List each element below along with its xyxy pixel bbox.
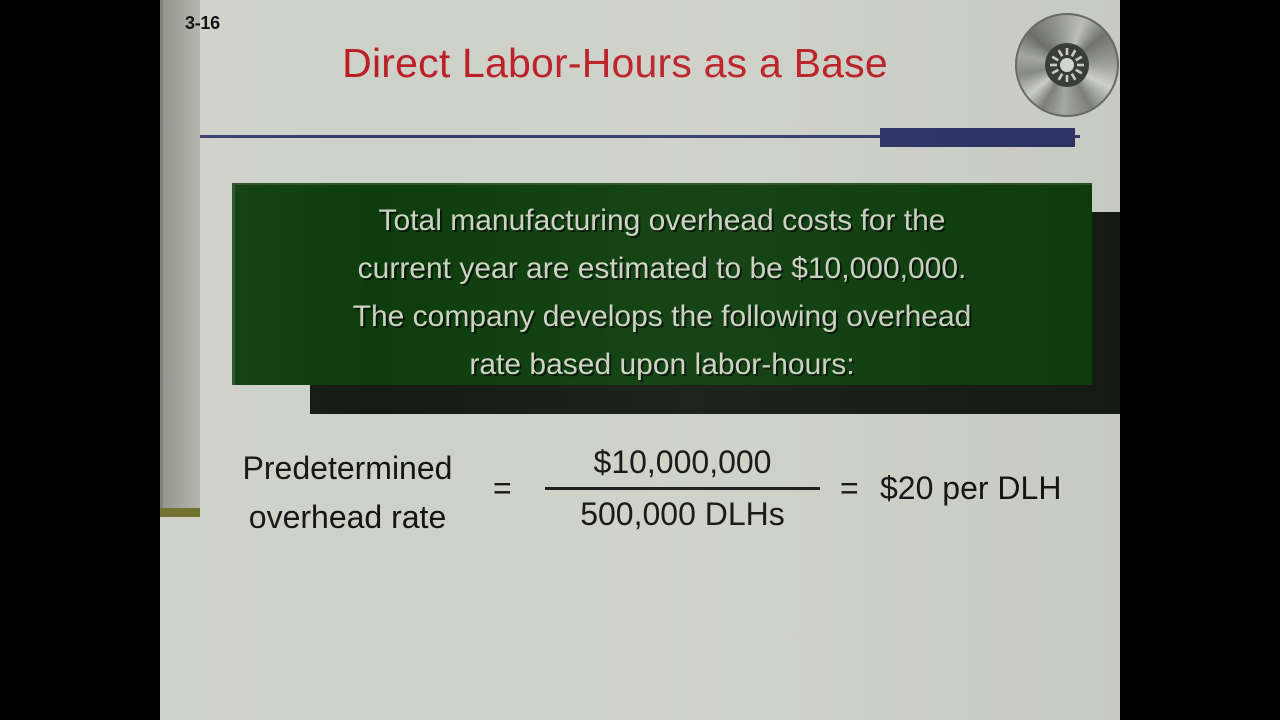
formula-denominator: 500,000 DLHs [545,492,820,536]
callout-line-4: rate based upon labor-hours: [246,341,1078,389]
page-title: Direct Labor-Hours as a Base [220,40,1010,87]
slide-stage: 3-16 Direct Labor-Hours as a Base [0,0,1280,720]
slide-number: 3-16 [185,13,220,34]
callout-line-3: The company develops the following overh… [246,293,1078,341]
callout-line-2: current year are estimated to be $10,000… [246,245,1078,293]
formula-equals-second: = [840,470,859,507]
slide-canvas: 3-16 Direct Labor-Hours as a Base [160,0,1120,720]
formula-label: Predetermined overhead rate [220,444,475,542]
formula-equals-first: = [493,470,512,507]
green-callout-box: Total manufacturing overhead costs for t… [232,183,1092,385]
callout-line-1: Total manufacturing overhead costs for t… [246,197,1078,245]
left-decorative-strip [160,0,200,509]
header-accent-block [880,128,1075,147]
cd-center-hole [1060,58,1074,72]
formula-fraction: $10,000,000 500,000 DLHs [545,440,820,536]
formula-label-line-2: overhead rate [220,493,475,542]
formula-result: $20 per DLH [880,470,1061,507]
cd-disc-logo [1015,13,1119,117]
formula-numerator: $10,000,000 [545,440,820,484]
callout-text: Total manufacturing overhead costs for t… [246,197,1078,389]
left-accent-bar [160,508,200,517]
predetermined-overhead-rate-formula: Predetermined overhead rate = $10,000,00… [215,440,1095,550]
formula-label-line-1: Predetermined [243,450,453,486]
left-strip-edge [160,0,163,509]
formula-fraction-bar [545,487,820,490]
